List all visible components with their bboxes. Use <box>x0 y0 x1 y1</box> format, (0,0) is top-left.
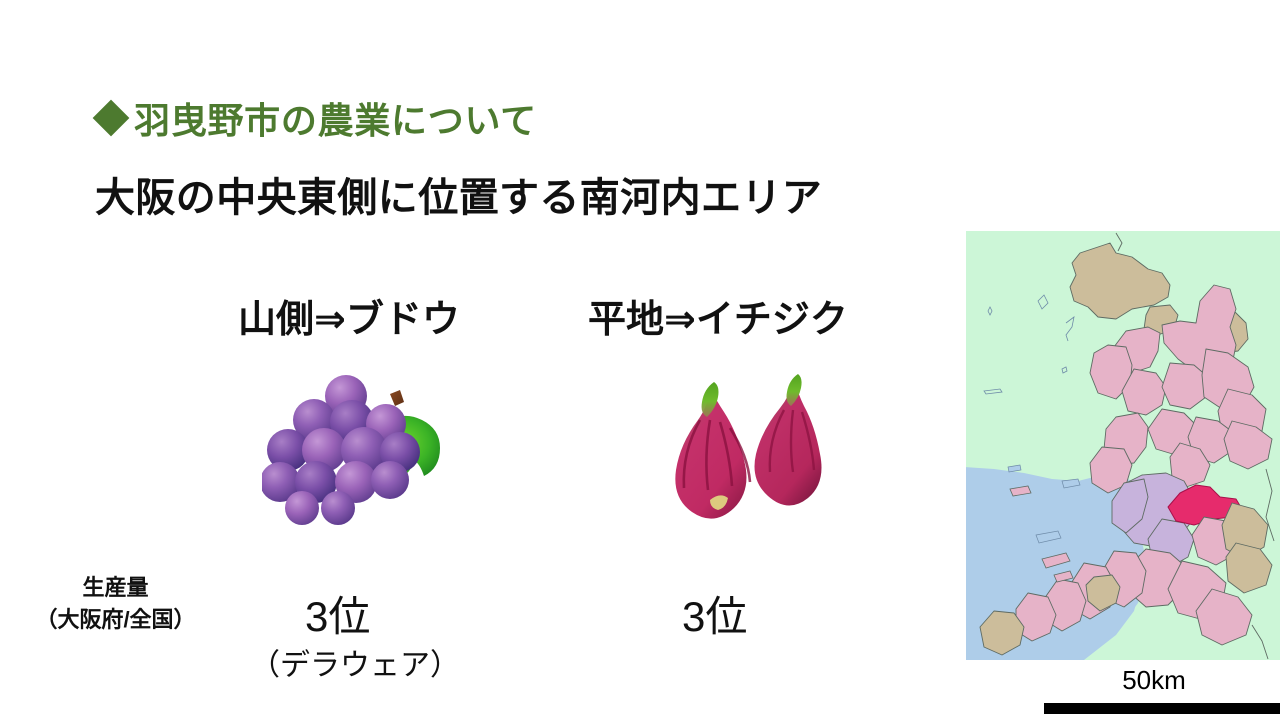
diamond-bullet-icon <box>93 100 130 137</box>
figs-illustration <box>648 360 823 528</box>
production-label: 生産量 （大阪府/全国） <box>8 572 223 636</box>
column-heading-figs: 平地⇒イチジク <box>588 288 848 343</box>
map-scale: 50km <box>1028 667 1280 717</box>
rank-grapes: 3位 <box>305 583 370 644</box>
column-heading-grapes: 山側⇒ブドウ <box>238 288 460 343</box>
rank-figs: 3位 <box>682 583 747 644</box>
map-scale-label: 50km <box>1028 667 1280 693</box>
map-scale-bar <box>1044 703 1280 714</box>
slide-canvas: 羽曳野市の農業について 大阪の中央東側に位置する南河内エリア 山側⇒ブドウ 平地… <box>0 0 1280 720</box>
production-label-line2: （大阪府/全国） <box>8 604 223 636</box>
rank-grapes-note: （デラウェア） <box>250 640 460 684</box>
osaka-prefecture-map <box>966 231 1280 660</box>
section-heading: 羽曳野市の農業について <box>98 92 537 144</box>
grapes-illustration <box>262 362 462 527</box>
production-label-line1: 生産量 <box>8 572 223 604</box>
section-heading-text: 羽曳野市の農業について <box>134 92 537 144</box>
page-subtitle: 大阪の中央東側に位置する南河内エリア <box>95 165 822 223</box>
